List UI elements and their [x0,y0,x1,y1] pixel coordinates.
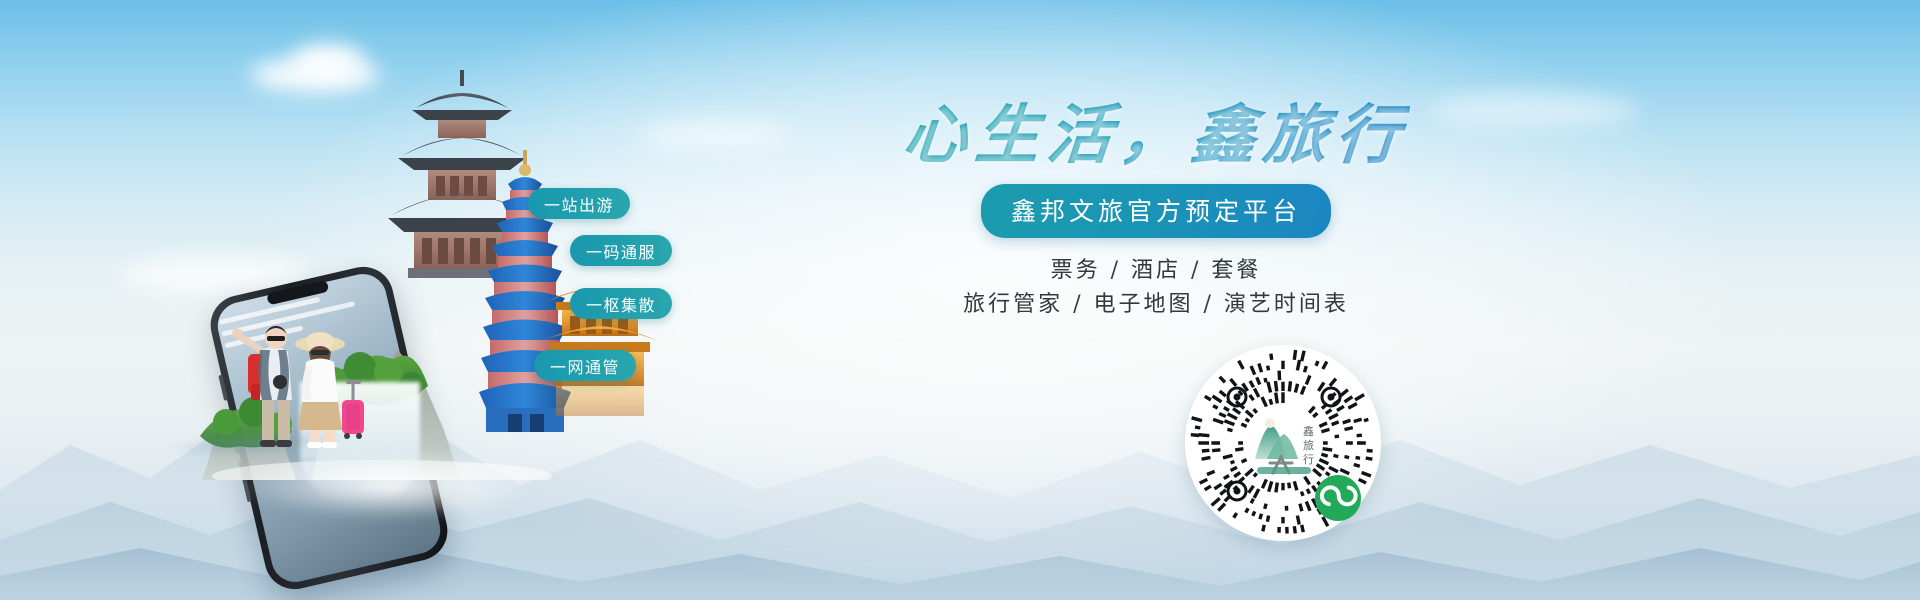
service-line: 票务 / 酒店 / 套餐 [806,254,1506,288]
banner-copy-block: 心生活，鑫旅行 鑫邦文旅官方预定平台 票务 / 酒店 / 套餐 旅行管家 / 电… [806,60,1506,322]
service-line: 旅行管家 / 电子地图 / 演艺时间表 [806,288,1506,322]
svg-text:行: 行 [1303,453,1314,466]
svg-text:鑫: 鑫 [1303,424,1314,438]
feature-pill[interactable]: 一码通服 [570,235,672,266]
headline-text: 心生活，鑫旅行 [900,84,1412,176]
feature-pill[interactable]: 一站出游 [528,188,630,219]
platform-badge: 鑫邦文旅官方预定平台 [981,184,1331,238]
qr-code[interactable]: 鑫 旅 行 [1185,345,1381,541]
feature-pill[interactable]: 一网通管 [534,350,636,381]
feature-pill[interactable]: 一枢集散 [570,288,672,319]
service-list: 票务 / 酒店 / 套餐 旅行管家 / 电子地图 / 演艺时间表 [806,254,1506,322]
wechat-miniprogram-icon [1315,475,1361,521]
promo-banner: 一站出游 一码通服 一枢集散 一网通管 心生活，鑫旅行 鑫邦文旅官方预定平台 票… [0,0,1920,600]
banner-headline: 心生活，鑫旅行 [806,84,1506,170]
svg-text:旅: 旅 [1303,438,1314,452]
